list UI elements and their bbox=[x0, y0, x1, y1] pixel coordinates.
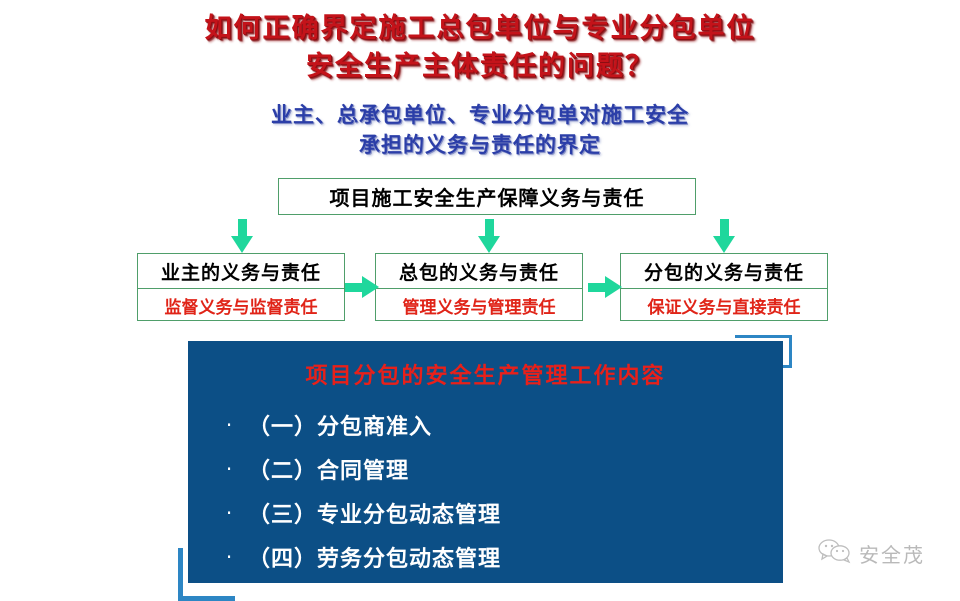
list-item: · （三）专业分包动态管理 bbox=[210, 491, 770, 535]
watermark-label: 安全茂 bbox=[859, 539, 925, 568]
bullet-dot-icon: · bbox=[210, 459, 248, 479]
arrow-down-general-icon bbox=[478, 219, 500, 253]
content-panel-heading: 项目分包的安全生产管理工作内容 bbox=[188, 358, 783, 390]
flow-box-root: 项目施工安全生产保障义务与责任 bbox=[278, 178, 696, 215]
page-title-line-1: 如何正确界定施工总包单位与专业分包单位 bbox=[0, 10, 960, 48]
flow-box-owner-duty: 监督义务与监督责任 bbox=[138, 288, 344, 321]
content-panel-list: · （一）分包商准入 · （二）合同管理 · （三）专业分包动态管理 · （四）… bbox=[210, 403, 770, 579]
flow-box-root-label: 项目施工安全生产保障义务与责任 bbox=[279, 179, 695, 214]
page-title-line-2: 安全生产主体责任的问题？ bbox=[0, 48, 960, 86]
flow-box-owner: 业主的义务与责任 监督义务与监督责任 bbox=[137, 253, 345, 321]
content-panel: 项目分包的安全生产管理工作内容 · （一）分包商准入 · （二）合同管理 · （… bbox=[188, 341, 783, 583]
bullet-dot-icon: · bbox=[210, 547, 248, 567]
flow-box-general-contractor-duty: 管理义务与管理责任 bbox=[376, 288, 582, 321]
page-title: 如何正确界定施工总包单位与专业分包单位 安全生产主体责任的问题？ bbox=[0, 10, 960, 86]
slide-canvas: 如何正确界定施工总包单位与专业分包单位 安全生产主体责任的问题？ 业主、总承包单… bbox=[0, 0, 960, 601]
flow-box-subcontractor-title: 分包的义务与责任 bbox=[621, 254, 827, 288]
watermark: 安全茂 bbox=[818, 538, 925, 568]
flow-box-general-contractor-title: 总包的义务与责任 bbox=[376, 254, 582, 288]
list-item: · （四）劳务分包动态管理 bbox=[210, 535, 770, 579]
arrow-down-sub-icon bbox=[713, 219, 735, 253]
list-item: · （一）分包商准入 bbox=[210, 403, 770, 447]
page-subtitle-line-1: 业主、总承包单位、专业分包单对施工安全 bbox=[0, 100, 960, 130]
page-subtitle-line-2: 承担的义务与责任的界定 bbox=[0, 130, 960, 160]
flow-box-owner-title: 业主的义务与责任 bbox=[138, 254, 344, 288]
arrow-right-general-to-sub-icon bbox=[588, 276, 622, 298]
arrow-right-owner-to-general-icon bbox=[345, 276, 379, 298]
list-item-label: （二）合同管理 bbox=[248, 453, 409, 485]
page-subtitle: 业主、总承包单位、专业分包单对施工安全 承担的义务与责任的界定 bbox=[0, 100, 960, 160]
list-item-label: （三）专业分包动态管理 bbox=[248, 497, 501, 529]
bullet-dot-icon: · bbox=[210, 415, 248, 435]
flow-box-general-contractor: 总包的义务与责任 管理义务与管理责任 bbox=[375, 253, 583, 321]
flow-box-subcontractor: 分包的义务与责任 保证义务与直接责任 bbox=[620, 253, 828, 321]
wechat-icon bbox=[818, 538, 852, 568]
arrow-down-owner-icon bbox=[231, 219, 253, 253]
list-item-label: （一）分包商准入 bbox=[248, 409, 432, 441]
list-item-label: （四）劳务分包动态管理 bbox=[248, 541, 501, 573]
flow-box-subcontractor-duty: 保证义务与直接责任 bbox=[621, 288, 827, 321]
bullet-dot-icon: · bbox=[210, 503, 248, 523]
list-item: · （二）合同管理 bbox=[210, 447, 770, 491]
